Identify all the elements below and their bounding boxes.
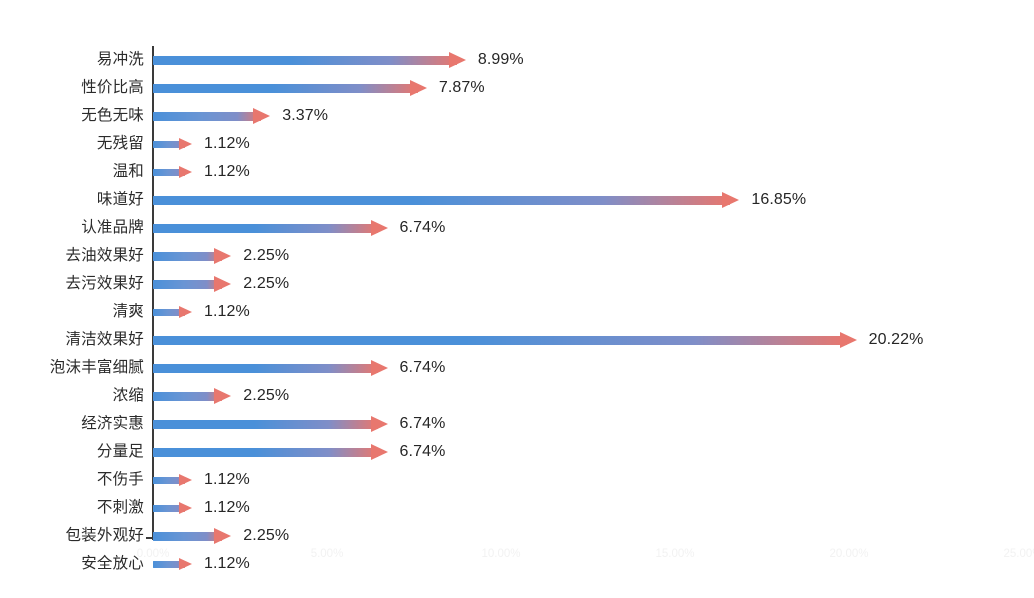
bar-arrow — [153, 186, 739, 214]
bar-shaft — [153, 420, 378, 429]
bar-row: 泡沫丰富细腻6.74% — [0, 354, 1034, 382]
x-axis-tick-label: 10.00% — [481, 548, 520, 560]
bar-row: 性价比高7.87% — [0, 74, 1034, 102]
bar-arrow — [153, 214, 388, 242]
bar-shaft — [153, 252, 222, 261]
x-axis-tick-label: 0.00% — [137, 548, 170, 560]
bar-row: 温和1.12% — [0, 158, 1034, 186]
bar-row: 去油效果好2.25% — [0, 242, 1034, 270]
bar-row: 去污效果好2.25% — [0, 270, 1034, 298]
bar-arrow-head — [449, 52, 466, 68]
bar-value-label: 3.37% — [282, 102, 328, 130]
bar-row: 不伤手1.12% — [0, 466, 1034, 494]
bar-row: 易冲洗8.99% — [0, 46, 1034, 74]
bar-shaft — [153, 84, 418, 93]
horizontal-arrow-bar-chart: 易冲洗8.99%性价比高7.87%无色无味3.37%无残留1.12%温和1.12… — [0, 0, 1034, 598]
bar-arrow — [153, 466, 192, 494]
bar-value-label: 1.12% — [204, 466, 250, 494]
category-label: 易冲洗 — [0, 46, 144, 74]
x-axis-tick-label: 25.00% — [1003, 548, 1034, 560]
bar-arrow — [153, 410, 388, 438]
bar-arrow — [153, 270, 231, 298]
category-label: 温和 — [0, 158, 144, 186]
bar-arrow-head — [179, 502, 192, 514]
bar-arrow — [153, 438, 388, 466]
bar-arrow — [153, 522, 231, 550]
category-label: 分量足 — [0, 438, 144, 466]
bar-arrow — [153, 46, 466, 74]
bar-shaft — [153, 56, 457, 65]
bar-value-label: 2.25% — [243, 270, 289, 298]
bar-shaft — [153, 224, 378, 233]
bar-arrow-head — [722, 192, 739, 208]
category-label: 浓缩 — [0, 382, 144, 410]
x-axis-tick-label: 5.00% — [311, 548, 344, 560]
bar-arrow — [153, 242, 231, 270]
bar-value-label: 6.74% — [400, 354, 446, 382]
bar-shaft — [153, 364, 378, 373]
category-label: 去油效果好 — [0, 242, 144, 270]
bar-row: 清洁效果好20.22% — [0, 326, 1034, 354]
bar-row: 分量足6.74% — [0, 438, 1034, 466]
bar-value-label: 1.12% — [204, 130, 250, 158]
bar-value-label: 2.25% — [243, 382, 289, 410]
bar-arrow — [153, 382, 231, 410]
plot-area: 易冲洗8.99%性价比高7.87%无色无味3.37%无残留1.12%温和1.12… — [0, 40, 1034, 540]
bar-shaft — [153, 280, 222, 289]
bar-shaft — [153, 392, 222, 401]
bar-arrow-head — [371, 220, 388, 236]
bar-shaft — [153, 336, 847, 345]
bar-value-label: 6.74% — [400, 410, 446, 438]
bar-value-label: 6.74% — [400, 438, 446, 466]
bar-arrow — [153, 298, 192, 326]
category-label: 认准品牌 — [0, 214, 144, 242]
bar-value-label: 16.85% — [751, 186, 806, 214]
bar-value-label: 1.12% — [204, 298, 250, 326]
bar-shaft — [153, 448, 378, 457]
bar-arrow — [153, 494, 192, 522]
bar-arrow-head — [410, 80, 427, 96]
bar-shaft — [153, 532, 222, 541]
x-axis: 0.00%5.00%10.00%15.00%20.00%25.00% — [0, 548, 1034, 572]
bar-arrow-head — [214, 248, 231, 264]
bar-arrow-head — [179, 166, 192, 178]
bar-arrow-head — [214, 388, 231, 404]
x-axis-tick-label: 15.00% — [655, 548, 694, 560]
bar-shaft — [153, 196, 730, 205]
x-axis-tick-label: 20.00% — [829, 548, 868, 560]
bar-arrow — [153, 74, 427, 102]
category-label: 无残留 — [0, 130, 144, 158]
bar-arrow-head — [179, 306, 192, 318]
bar-value-label: 1.12% — [204, 158, 250, 186]
bar-row: 清爽1.12% — [0, 298, 1034, 326]
bar-value-label: 6.74% — [400, 214, 446, 242]
bar-arrow-head — [371, 360, 388, 376]
bar-arrow — [153, 354, 388, 382]
category-label: 性价比高 — [0, 74, 144, 102]
bar-row: 无色无味3.37% — [0, 102, 1034, 130]
category-label: 去污效果好 — [0, 270, 144, 298]
bar-value-label: 2.25% — [243, 242, 289, 270]
category-label: 清爽 — [0, 298, 144, 326]
bar-arrow-head — [214, 276, 231, 292]
bar-arrow — [153, 102, 270, 130]
bar-arrow — [153, 326, 857, 354]
bar-row: 味道好16.85% — [0, 186, 1034, 214]
bar-arrow-head — [840, 332, 857, 348]
bar-value-label: 7.87% — [439, 74, 485, 102]
bar-row: 包装外观好2.25% — [0, 522, 1034, 550]
bar-arrow-head — [214, 528, 231, 544]
category-label: 无色无味 — [0, 102, 144, 130]
bar-shaft — [153, 112, 261, 121]
bar-value-label: 2.25% — [243, 522, 289, 550]
category-label: 经济实惠 — [0, 410, 144, 438]
bar-arrow — [153, 158, 192, 186]
bar-arrow-head — [371, 444, 388, 460]
bar-arrow — [153, 130, 192, 158]
category-label: 不伤手 — [0, 466, 144, 494]
category-label: 泡沫丰富细腻 — [0, 354, 144, 382]
category-label: 不刺激 — [0, 494, 144, 522]
category-label: 包装外观好 — [0, 522, 144, 550]
bar-arrow-head — [179, 474, 192, 486]
bar-row: 经济实惠6.74% — [0, 410, 1034, 438]
bar-row: 无残留1.12% — [0, 130, 1034, 158]
bar-arrow-head — [179, 138, 192, 150]
category-label: 味道好 — [0, 186, 144, 214]
bar-arrow-head — [253, 108, 270, 124]
bar-value-label: 20.22% — [869, 326, 924, 354]
bar-row: 认准品牌6.74% — [0, 214, 1034, 242]
bar-row: 不刺激1.12% — [0, 494, 1034, 522]
bar-value-label: 8.99% — [478, 46, 524, 74]
category-label: 清洁效果好 — [0, 326, 144, 354]
bar-value-label: 1.12% — [204, 494, 250, 522]
bar-row: 浓缩2.25% — [0, 382, 1034, 410]
bar-arrow-head — [371, 416, 388, 432]
